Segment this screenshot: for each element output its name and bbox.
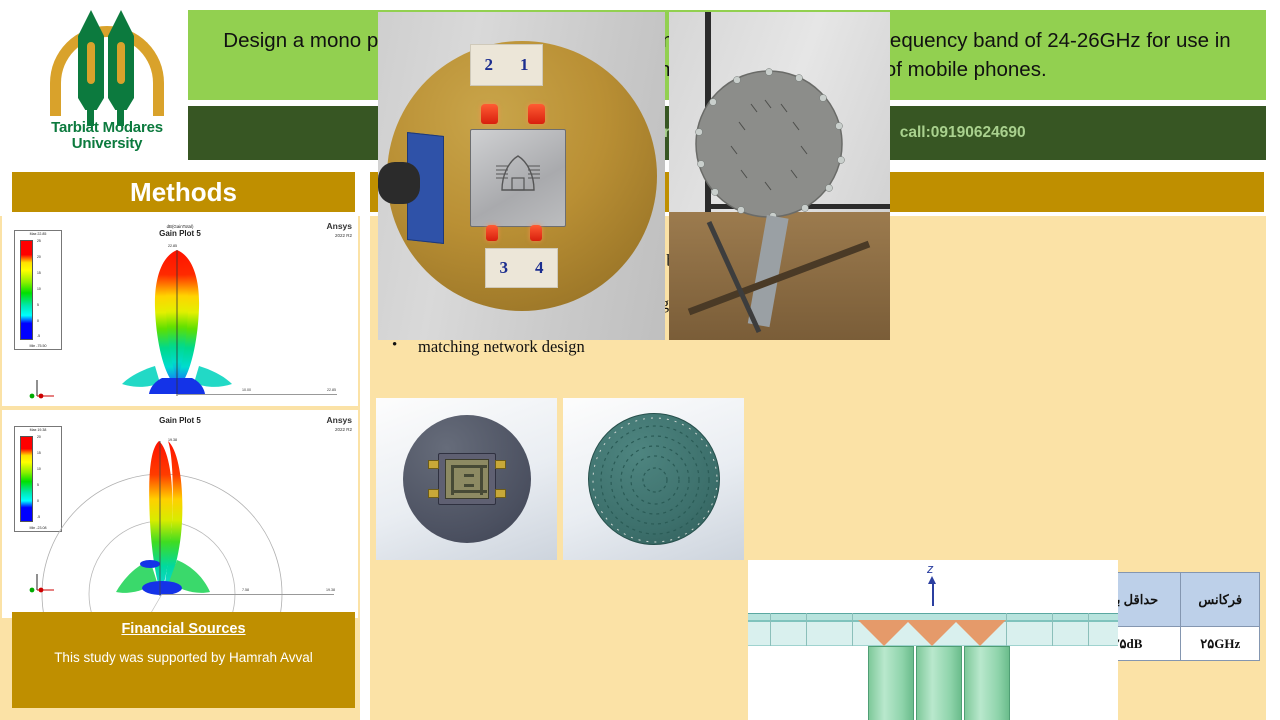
tripod-mount — [378, 162, 420, 204]
financial-sources-box: Financial Sources This study was support… — [12, 612, 355, 708]
poster-canvas: Tarbiat Modares University Design a mono… — [0, 0, 1280, 720]
cad-slot-pattern — [589, 414, 721, 546]
cad-feed-block — [438, 453, 496, 505]
cad-slot-array-view — [563, 398, 744, 560]
cad-port — [428, 489, 439, 498]
gain-plot-top-axis-tick: 10.00 — [242, 388, 251, 392]
table-cell-frequency: ۲۵GHz — [1181, 627, 1260, 661]
cad-port — [428, 460, 439, 469]
logo-text: Tarbiat Modares University — [51, 120, 163, 152]
prototype-side-photo — [669, 12, 890, 340]
cad-feed-inner — [445, 459, 489, 499]
cross-section-diagram: z — [748, 560, 1118, 720]
gain-plot-top-axis-tick: 22.85 — [327, 388, 336, 392]
cross-section-cone — [906, 620, 958, 646]
z-axis-stem — [932, 582, 934, 606]
cross-section-cone — [954, 620, 1006, 646]
port-label: 1 — [520, 55, 529, 75]
logo-stem-left-icon — [87, 100, 94, 126]
cross-section-cone — [858, 620, 910, 646]
enclosure-logo-icon — [490, 150, 546, 198]
port-label: 2 — [485, 55, 494, 75]
prototype-front-photo: 2 1 3 4 — [378, 12, 665, 340]
sma-connector-icon — [481, 104, 498, 124]
sma-connector-icon — [486, 225, 498, 241]
gain-plot-bottom-axis-tick: 7.58 — [242, 588, 249, 592]
cross-section-top-layer — [748, 613, 1118, 620]
cross-section-cylinder — [916, 646, 962, 720]
axis-triad-icon — [24, 570, 58, 594]
university-logo: Tarbiat Modares University — [28, 8, 186, 166]
cad-render-row — [376, 398, 744, 560]
table-header-frequency: فرکانس — [1181, 573, 1260, 627]
port-label: 3 — [500, 258, 509, 278]
z-axis-arrow-icon — [928, 576, 936, 584]
logo-arch-icon — [50, 26, 164, 116]
port-tag-top: 2 1 — [470, 44, 543, 86]
feed-metal-enclosure — [470, 129, 566, 227]
financial-sources-title: Financial Sources — [121, 621, 245, 637]
cad-feed-network-view — [376, 398, 557, 560]
methods-heading-label: Methods — [130, 177, 237, 208]
contact-phone: call:09190624690 — [900, 124, 1026, 142]
cross-section-cylinder — [964, 646, 1010, 720]
cad-port — [495, 460, 506, 469]
methods-section-header: Methods — [12, 172, 355, 212]
cad-slot-array-disk — [588, 413, 720, 545]
gain-plot-bottom-axis — [162, 594, 334, 595]
gain-plot-3d: dB(GainTotal) Gain Plot 5 Ansys 2022 R2 … — [2, 216, 358, 406]
logo-mark-icon — [48, 8, 166, 116]
sma-connector-icon — [530, 225, 542, 241]
gain-plot-polar: Gain Plot 5 Ansys 2022 R2 Max 19.38 20 1… — [2, 410, 358, 618]
logo-wheat-core-left-icon — [87, 42, 95, 84]
sma-connector-icon — [528, 104, 545, 124]
port-label: 4 — [535, 258, 544, 278]
logo-text-line1: Tarbiat Modares — [51, 120, 163, 136]
financial-sources-body: This study was supported by Hamrah Avval — [12, 650, 355, 665]
cross-section-cylinder — [868, 646, 914, 720]
logo-stem-right-icon — [117, 100, 124, 126]
axis-triad-icon — [24, 376, 58, 400]
logo-text-line2: University — [51, 136, 163, 152]
logo-wheat-core-right-icon — [117, 42, 125, 84]
z-axis-label: z — [927, 561, 934, 576]
port-tag-bottom: 3 4 — [485, 248, 558, 288]
side-antenna-render — [669, 12, 890, 340]
cad-port — [495, 489, 506, 498]
gain-plot-bottom-axis-tick: 19.38 — [326, 588, 335, 592]
gain-plot-top-axis — [177, 394, 337, 395]
